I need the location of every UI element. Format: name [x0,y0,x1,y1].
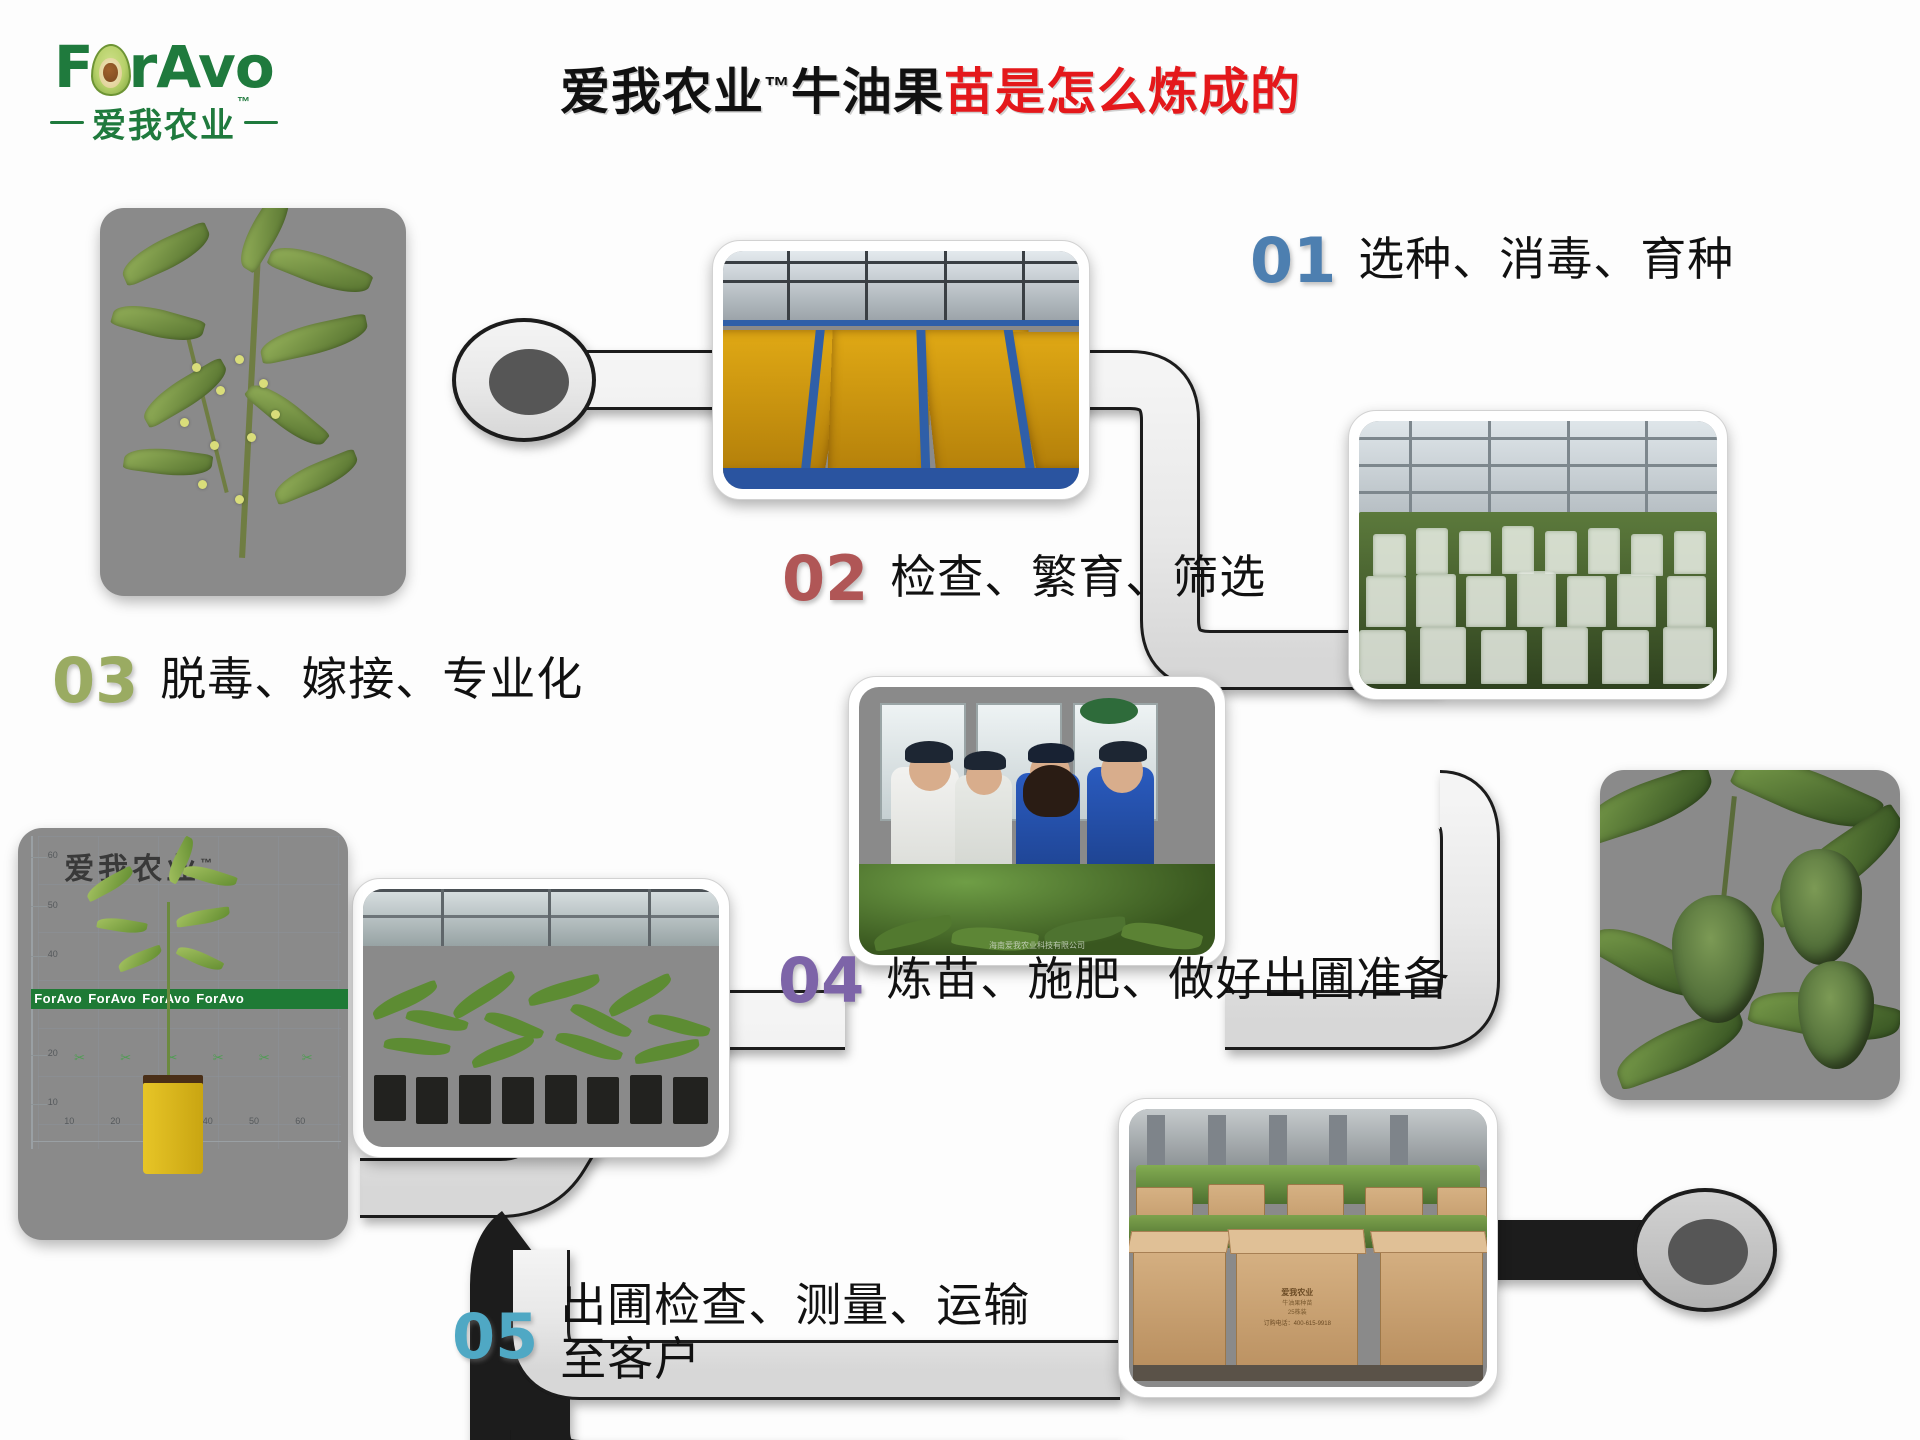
step-01-text: 选种、消毒、育种 [1358,232,1734,286]
step-04-text: 炼苗、施肥、做好出圃准备 [886,952,1450,1006]
step-03-number: 03 [52,652,138,711]
board-ytick-20: 20 [48,1048,58,1058]
board-xtick-60: 60 [295,1116,305,1126]
step-05: 05 出圃检查、测量、运输 至客户 [452,1278,1030,1387]
box-phone-label: 订购电话：400-615-9918 [1236,1318,1358,1327]
board-xtick-50: 50 [249,1116,259,1126]
flow-end-knob [1668,1219,1748,1285]
photo-packing-boxes-shipping: 爱我农业 牛油果种苗 25株装 订购电话：400-615-9918 [1118,1098,1498,1398]
board-xtick-10: 10 [64,1116,74,1126]
step-02: 02 检查、繁育、筛选 [782,550,1266,609]
photo-avocado-fruit-on-tree [1600,770,1900,1100]
step-04: 04 炼苗、施肥、做好出圃准备 [778,952,1450,1011]
step-02-number: 02 [782,550,868,609]
board-ytick-50: 50 [48,900,58,910]
step-05-text-line1: 出圃检查、测量、运输 [560,1278,1030,1332]
photo-watermark: 海南爱我农业科技有限公司 [989,940,1085,951]
step-01: 01 选种、消毒、育种 [1250,232,1734,291]
infographic-canvas: FrAvo 爱我农业™ 爱我农业™牛油果苗是怎么炼成的 [0,0,1920,1440]
photo-seedling-measurement-board: 爱我农业™ 60 50 40 30 20 10 10 20 30 40 50 6… [18,828,348,1240]
step-03-text: 脱毒、嫁接、专业化 [160,652,583,706]
band-text-2: ForAvo [88,991,136,1006]
band-text-1: ForAvo [34,991,82,1006]
photo-seed-trays-greenhouse [712,240,1090,500]
step-02-text: 检查、繁育、筛选 [890,550,1266,604]
box-brand-label: 爱我农业 [1236,1287,1358,1298]
step-05-text: 出圃检查、测量、运输 至客户 [560,1278,1030,1387]
box-line3-label: 25株装 [1236,1307,1358,1316]
box-line2-label: 牛油果种苗 [1236,1298,1358,1307]
step-01-number: 01 [1250,232,1336,291]
photo-bagged-plants-greenhouse [1348,410,1728,700]
step-05-text-line2: 至客户 [560,1332,1030,1386]
board-ytick-40: 40 [48,949,58,959]
band-text-4: ForAvo [196,991,244,1006]
board-foravo-band: ForAvo ForAvo ForAvo ForAvo [31,989,348,1009]
photo-staff-inspecting-plants: 海南爱我农业科技有限公司 [848,676,1226,966]
step-04-number: 04 [778,952,864,1011]
step-05-number: 05 [452,1308,538,1367]
board-ytick-60: 60 [48,850,58,860]
photo-potted-seedlings-rows [352,878,730,1158]
board-ytick-10: 10 [48,1097,58,1107]
photo-avocado-flowering-branch [100,208,406,596]
step-03: 03 脱毒、嫁接、专业化 [52,652,583,711]
flow-start-knob [489,349,569,415]
board-xtick-20: 20 [110,1116,120,1126]
board-xtick-40: 40 [203,1116,213,1126]
